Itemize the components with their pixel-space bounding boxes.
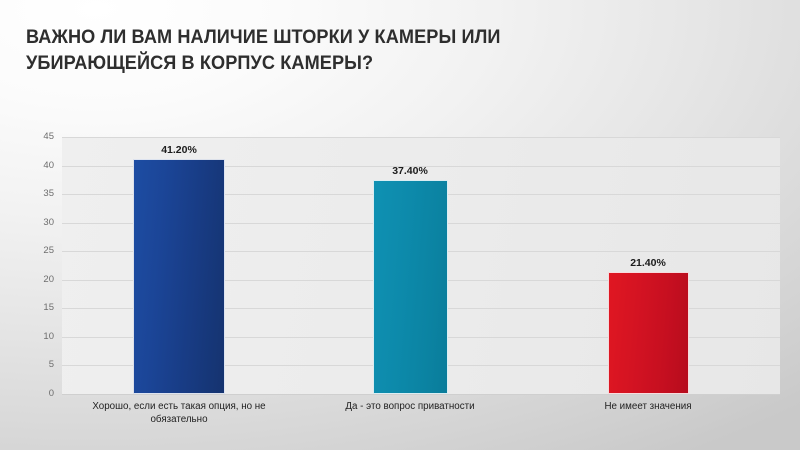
gridline — [62, 137, 780, 138]
bar-value-label: 41.20% — [161, 144, 197, 156]
bar-value-label: 21.40% — [630, 257, 666, 269]
y-axis-tick-label: 30 — [14, 218, 54, 228]
plot-area: 41.20%37.40%21.40% — [62, 137, 780, 394]
bar-chart: 41.20%37.40%21.40% 454035302520151050 Хо… — [0, 118, 800, 450]
y-axis-tick-label: 45 — [14, 132, 54, 142]
y-axis-tick-label: 40 — [14, 161, 54, 171]
y-axis-tick-label: 20 — [14, 275, 54, 285]
bar[interactable]: 21.40% — [608, 272, 689, 394]
x-axis-category-label: Хорошо, если есть такая опция, но не обя… — [45, 400, 313, 426]
bar-value-label: 37.40% — [392, 165, 428, 177]
y-axis-tick-label: 5 — [14, 360, 54, 370]
y-axis-tick-label: 15 — [14, 303, 54, 313]
gridline — [62, 394, 780, 395]
y-axis-tick-label: 10 — [14, 332, 54, 342]
page-title: ВАЖНО ЛИ ВАМ НАЛИЧИЕ ШТОРКИ У КАМЕРЫ ИЛИ… — [26, 24, 677, 76]
bar[interactable]: 37.40% — [373, 180, 448, 394]
x-axis-category-label: Да - это вопрос приватности — [296, 400, 524, 413]
x-axis-category-label: Не имеет значения — [548, 400, 748, 413]
slide-canvas: ВАЖНО ЛИ ВАМ НАЛИЧИЕ ШТОРКИ У КАМЕРЫ ИЛИ… — [0, 0, 800, 450]
y-axis-tick-label: 35 — [14, 189, 54, 199]
y-axis-tick-label: 25 — [14, 246, 54, 256]
y-axis-tick-label: 0 — [14, 389, 54, 399]
bar[interactable]: 41.20% — [133, 159, 225, 394]
